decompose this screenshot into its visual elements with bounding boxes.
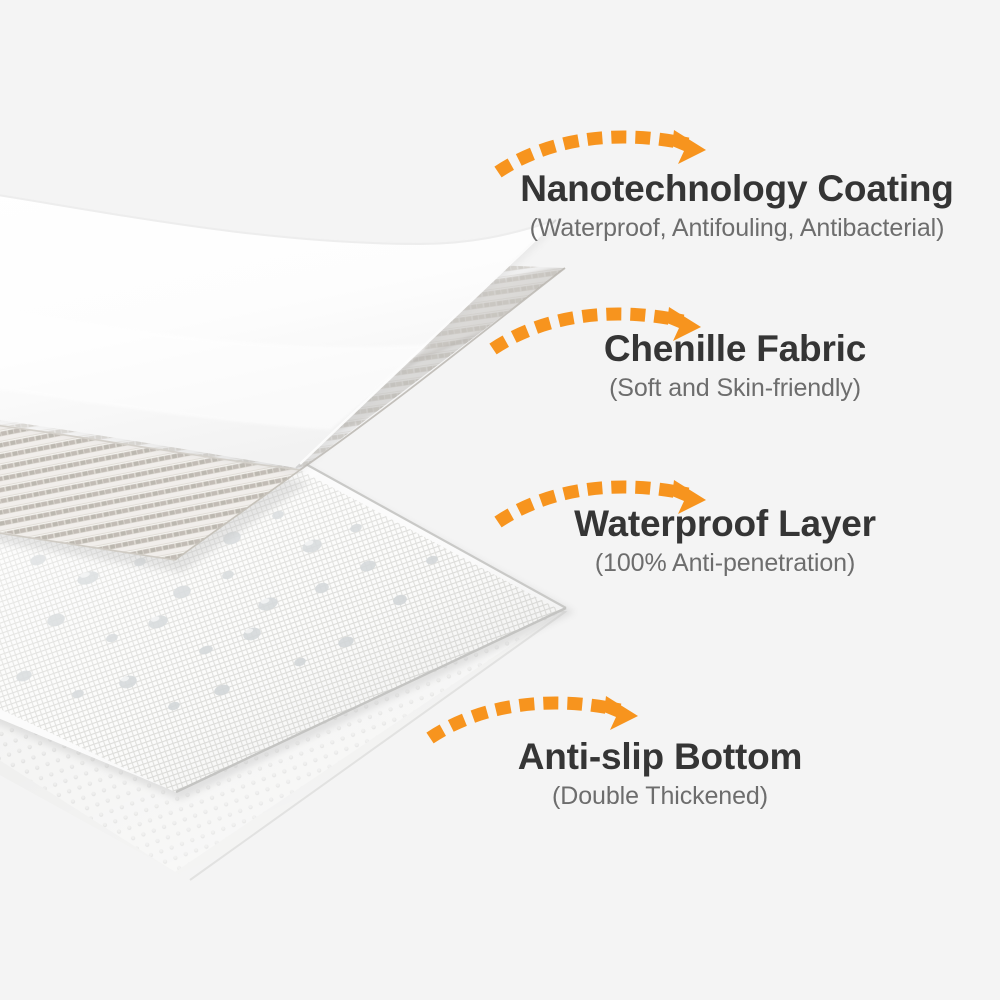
callout-title: Anti-slip Bottom (440, 736, 880, 777)
callout-subtitle: (100% Anti-penetration) (500, 548, 950, 578)
callout-label: Chenille Fabric (Soft and Skin-friendly) (520, 328, 950, 403)
callout-label: Waterproof Layer (100% Anti-penetration) (500, 503, 950, 578)
callout-title: Chenille Fabric (520, 328, 950, 369)
callout-label: Nanotechnology Coating (Waterproof, Anti… (477, 168, 997, 243)
product-layer-infographic: Nanotechnology Coating (Waterproof, Anti… (0, 0, 1000, 1000)
callout-subtitle: (Waterproof, Antifouling, Antibacterial) (477, 213, 997, 243)
callout-subtitle: (Soft and Skin-friendly) (520, 373, 950, 403)
callout-title: Waterproof Layer (500, 503, 950, 544)
callout-label: Anti-slip Bottom (Double Thickened) (440, 736, 880, 811)
callout-title: Nanotechnology Coating (477, 168, 997, 209)
callout-subtitle: (Double Thickened) (440, 781, 880, 811)
